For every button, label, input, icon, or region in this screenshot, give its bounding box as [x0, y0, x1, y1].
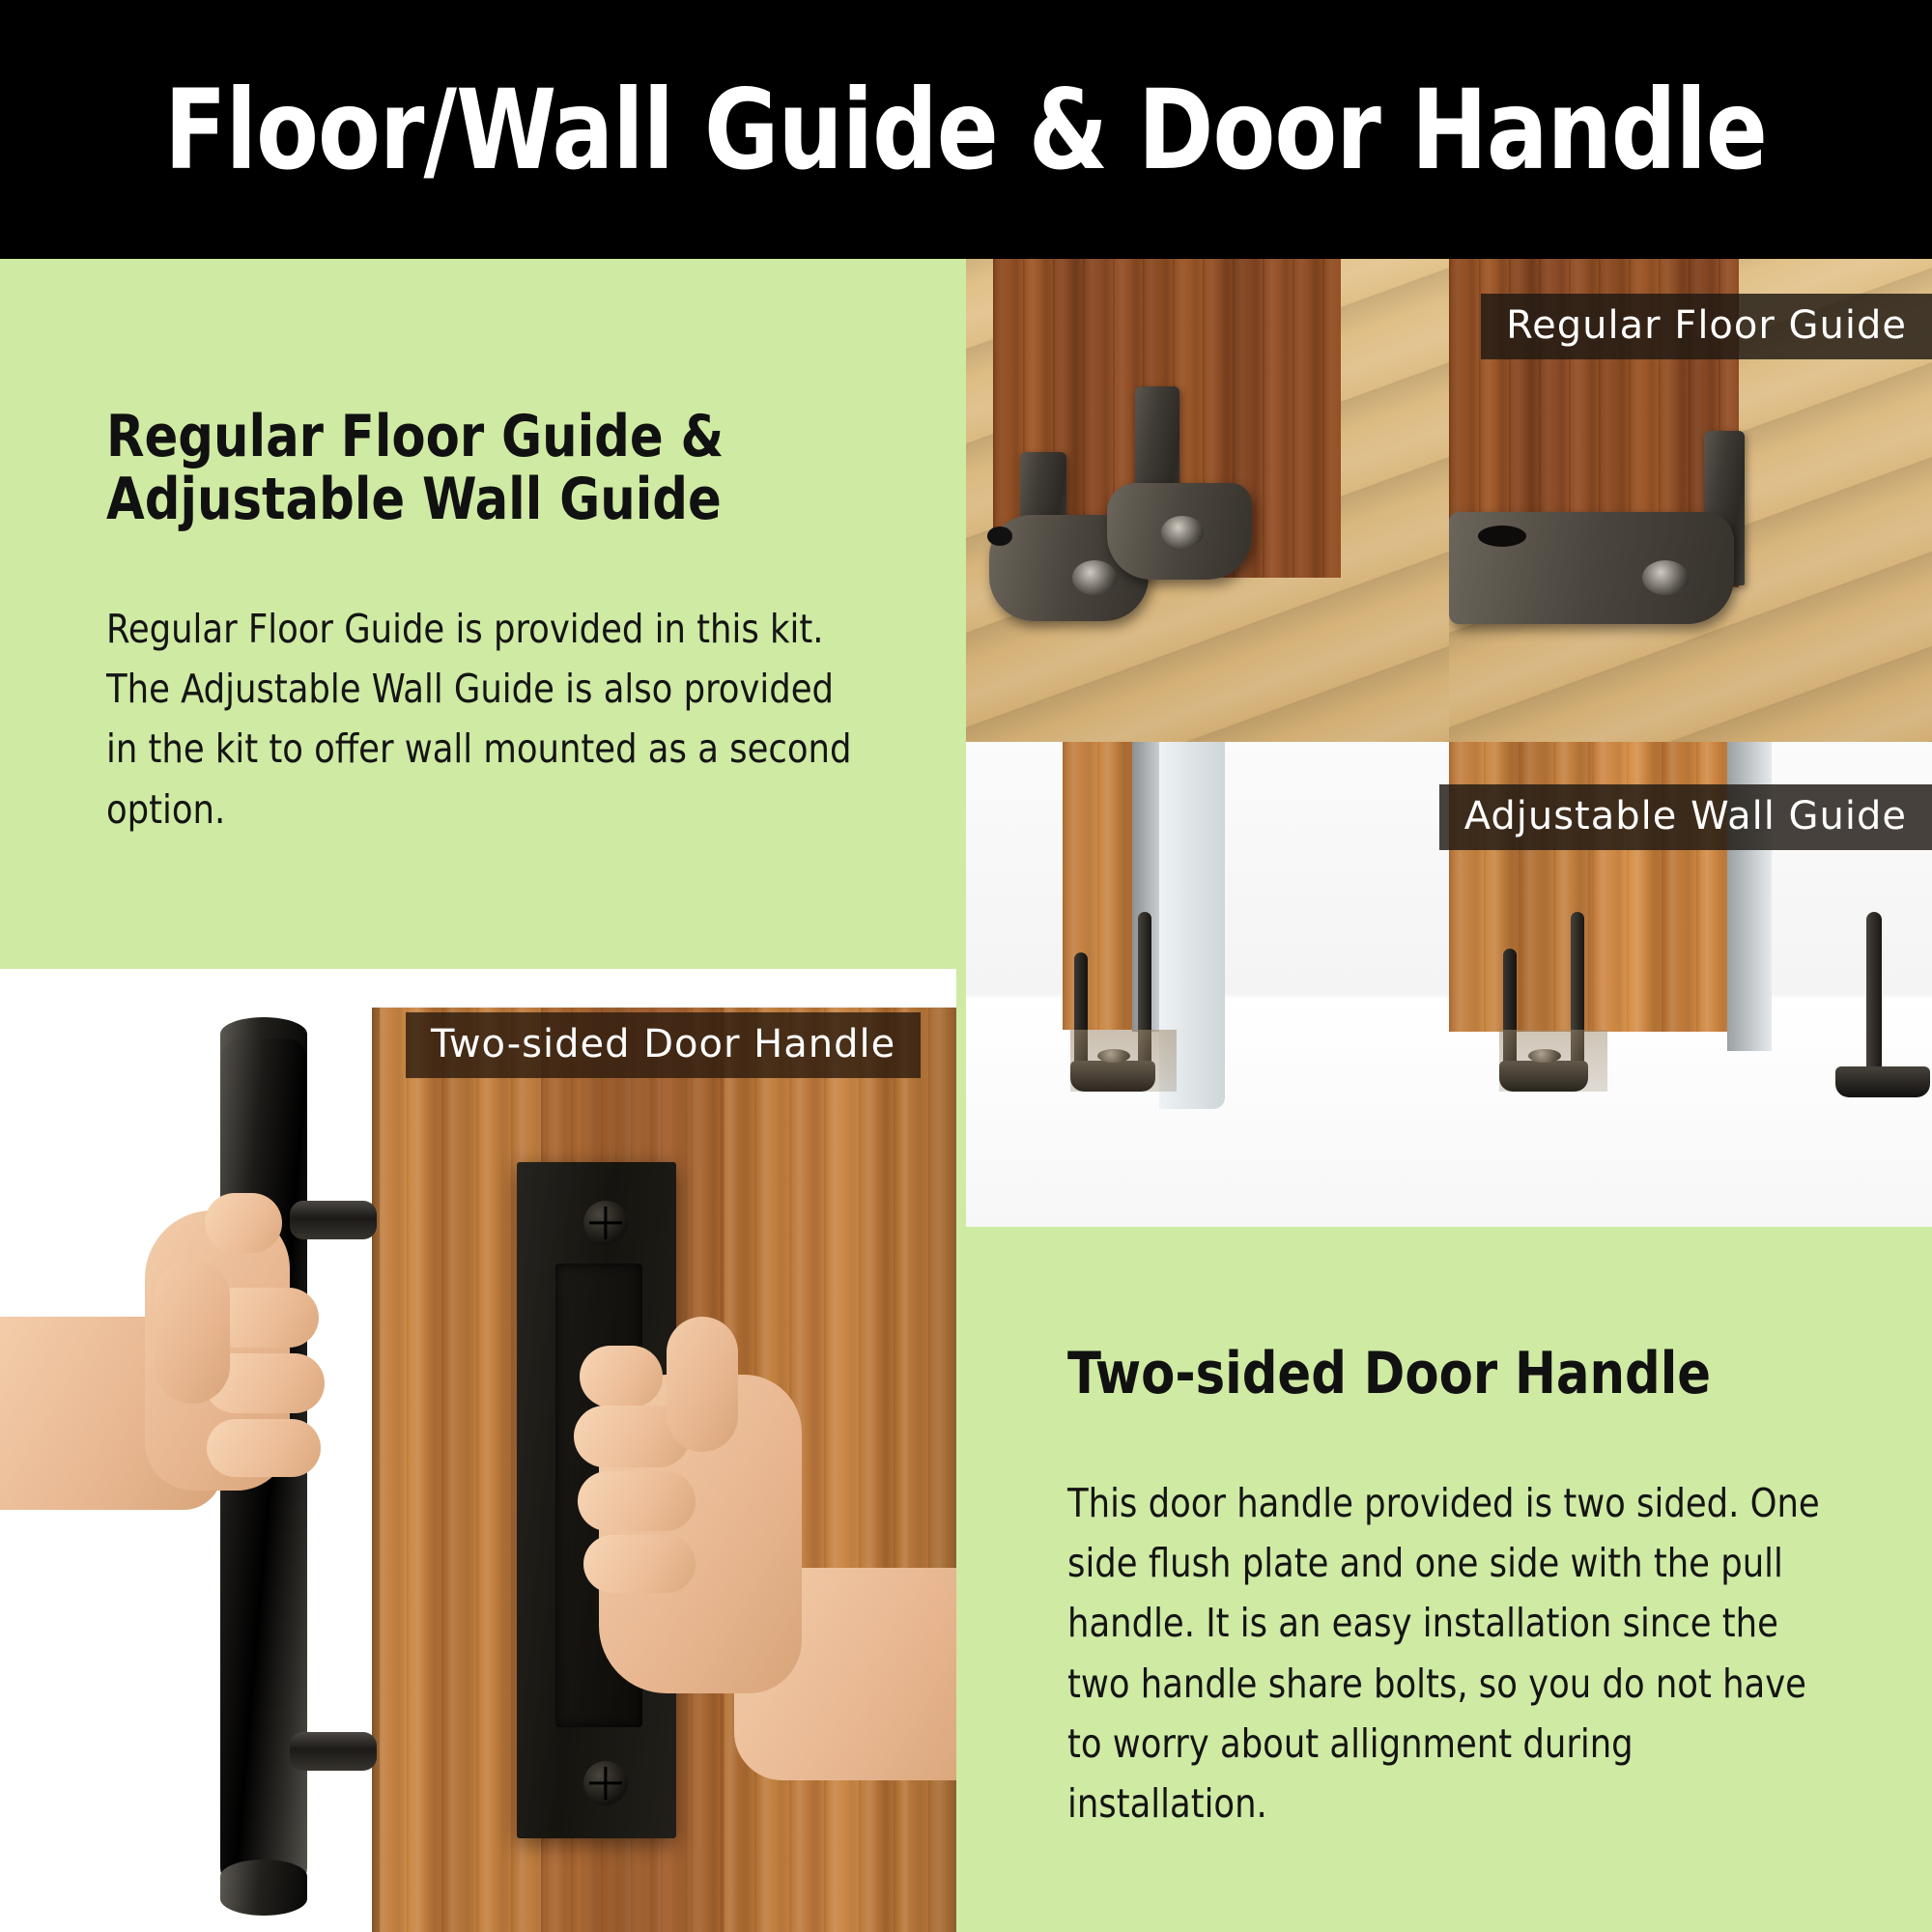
label-adjustable-wall-guide: Adjustable Wall Guide	[1439, 784, 1932, 850]
left-hand-thumb	[155, 1259, 230, 1404]
floor-wall-guide-text-block: Regular Floor Guide & Adjustable Wall Gu…	[106, 406, 898, 839]
left-hand-index-finger	[205, 1193, 282, 1253]
right-hand-ring-finger	[578, 1471, 696, 1531]
photo-regular-floor-guide-left	[966, 259, 1449, 742]
left-hand-little-finger	[207, 1419, 321, 1477]
right-hand-little-finger	[583, 1535, 696, 1593]
photo-two-sided-door-handle	[0, 969, 966, 1932]
door-handle-body: This door handle provided is two sided. …	[1067, 1473, 1837, 1834]
label-two-sided-door-handle: Two-sided Door Handle	[406, 1012, 921, 1078]
door-handle-heading: Two-sided Door Handle	[1067, 1343, 1830, 1406]
pull-handle-bottom-cap	[220, 1860, 307, 1916]
pull-handle-standoff-top	[290, 1201, 377, 1239]
page-header: Floor/Wall Guide & Door Handle	[0, 0, 1932, 259]
flush-plate-screw-top	[583, 1201, 628, 1245]
infographic-page: Floor/Wall Guide & Door Handle Regular F…	[0, 0, 1932, 1932]
flush-plate-screw-bottom	[583, 1761, 628, 1805]
pull-handle-standoff-bottom	[290, 1732, 377, 1771]
guide-mounting-shim	[1070, 1030, 1177, 1092]
wood-door-slab	[1063, 742, 1132, 1030]
floor-guide-hole	[987, 526, 1012, 546]
right-hand-thumb	[667, 1317, 738, 1452]
floor-guide-screw-left	[1072, 560, 1117, 595]
floor-wall-guide-heading: Regular Floor Guide & Adjustable Wall Gu…	[106, 406, 859, 531]
floor-guide-slot-hole	[1478, 526, 1526, 547]
page-title: Floor/Wall Guide & Door Handle	[165, 66, 1768, 194]
floor-guide-screw	[1642, 560, 1689, 595]
photo-adjustable-wall-guide-left	[966, 742, 1449, 1227]
door-left-edge	[372, 1008, 380, 1932]
door-handle-text-block: Two-sided Door Handle This door handle p…	[1067, 1343, 1869, 1834]
floor-wall-guide-body: Regular Floor Guide is provided in this …	[106, 599, 867, 839]
right-hand-index-finger	[580, 1346, 663, 1407]
panel-edge-accent	[956, 969, 966, 1932]
guide-mounting-shim	[1499, 1030, 1607, 1092]
floor-guide-screw-right	[1161, 516, 1204, 549]
second-guide-base	[1835, 1066, 1930, 1097]
label-regular-floor-guide: Regular Floor Guide	[1481, 294, 1932, 359]
second-guide-arm	[1866, 912, 1882, 1088]
